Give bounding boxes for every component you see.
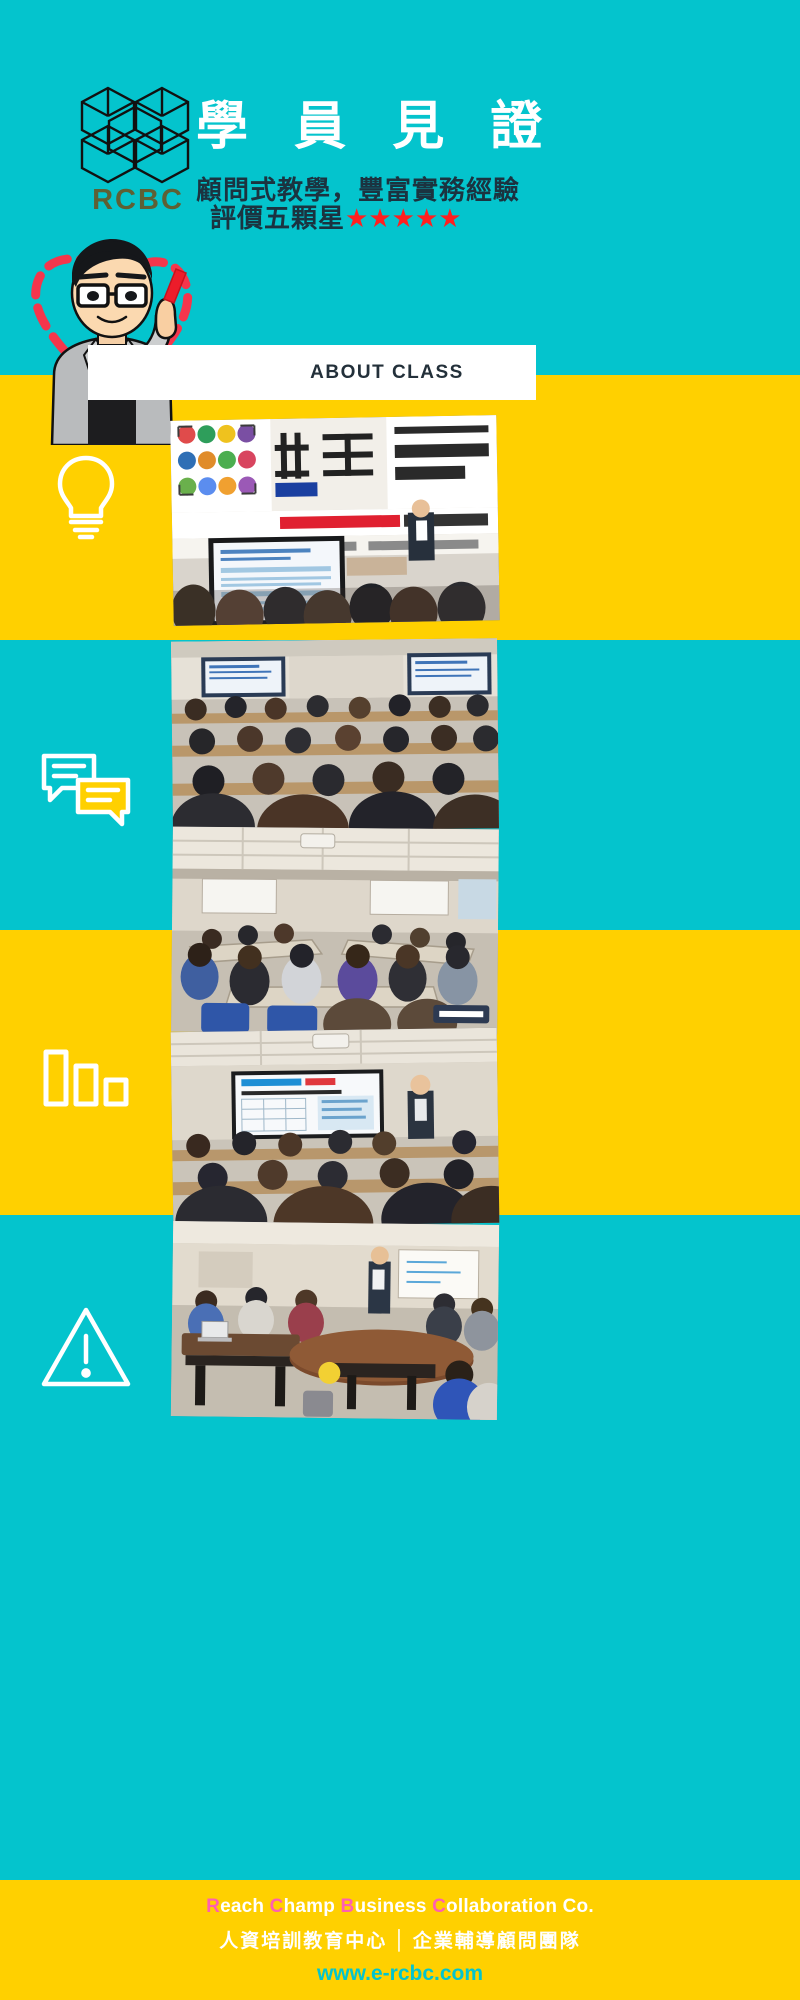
company-part-business: usiness	[354, 1896, 432, 1917]
warning-triangle-icon	[38, 1300, 134, 1396]
subtitle-line-2-text: 評價五顆星	[210, 204, 345, 234]
page-title: 學 員 見 證	[196, 100, 556, 155]
logo-wordmark: RCBC	[78, 184, 198, 217]
poster-footer: Reach Champ Business Collaboration Co. 人…	[0, 1880, 800, 2000]
photo-workshop-round-table	[171, 1221, 499, 1420]
photo-projector-class	[171, 1028, 500, 1228]
bar-chart-icon	[38, 1030, 134, 1126]
footer-tagline-divider: │	[387, 1930, 412, 1952]
company-part-collaboration: ollaboration Co.	[446, 1896, 594, 1917]
company-part-reach: each	[220, 1896, 270, 1917]
band-cyan-bottom	[0, 1505, 800, 1880]
about-class-label: ABOUT CLASS	[160, 362, 464, 384]
about-class-banner: ABOUT CLASS	[88, 345, 536, 400]
footer-tagline-left: 人資培訓教育中心	[219, 1930, 387, 1952]
star-rating: ★★★★★	[345, 204, 462, 234]
chat-bubbles-icon	[38, 740, 134, 836]
photo-seminar-room	[171, 827, 499, 1035]
footer-tagline-right: 企業輔導顧問團隊	[413, 1930, 581, 1952]
subtitle-line-2: 評價五顆星★★★★★	[210, 198, 462, 235]
poster-header: RCBC 學 員 見 證 顧問式教學，豐富實務經驗 評價五顆星★★★★★	[0, 0, 800, 375]
footer-tagline: 人資培訓教育中心│企業輔導顧問團隊	[0, 1918, 800, 1953]
photo-expo-stage	[170, 415, 500, 626]
footer-company-name: Reach Champ Business Collaboration Co.	[0, 1880, 800, 1918]
hexagon-cube-logo-icon	[78, 78, 198, 193]
photo-classroom-lecture	[171, 638, 499, 831]
lightbulb-icon	[38, 448, 134, 544]
company-initial-b: B	[341, 1896, 355, 1917]
footer-website-link[interactable]: www.e-rcbc.com	[0, 1953, 800, 1986]
company-initial-c2: C	[432, 1896, 446, 1917]
company-initial-r: R	[206, 1896, 220, 1917]
company-initial-c1: C	[270, 1896, 284, 1917]
company-part-champ: hamp	[284, 1896, 341, 1917]
business-man-mascot-icon	[10, 215, 210, 445]
